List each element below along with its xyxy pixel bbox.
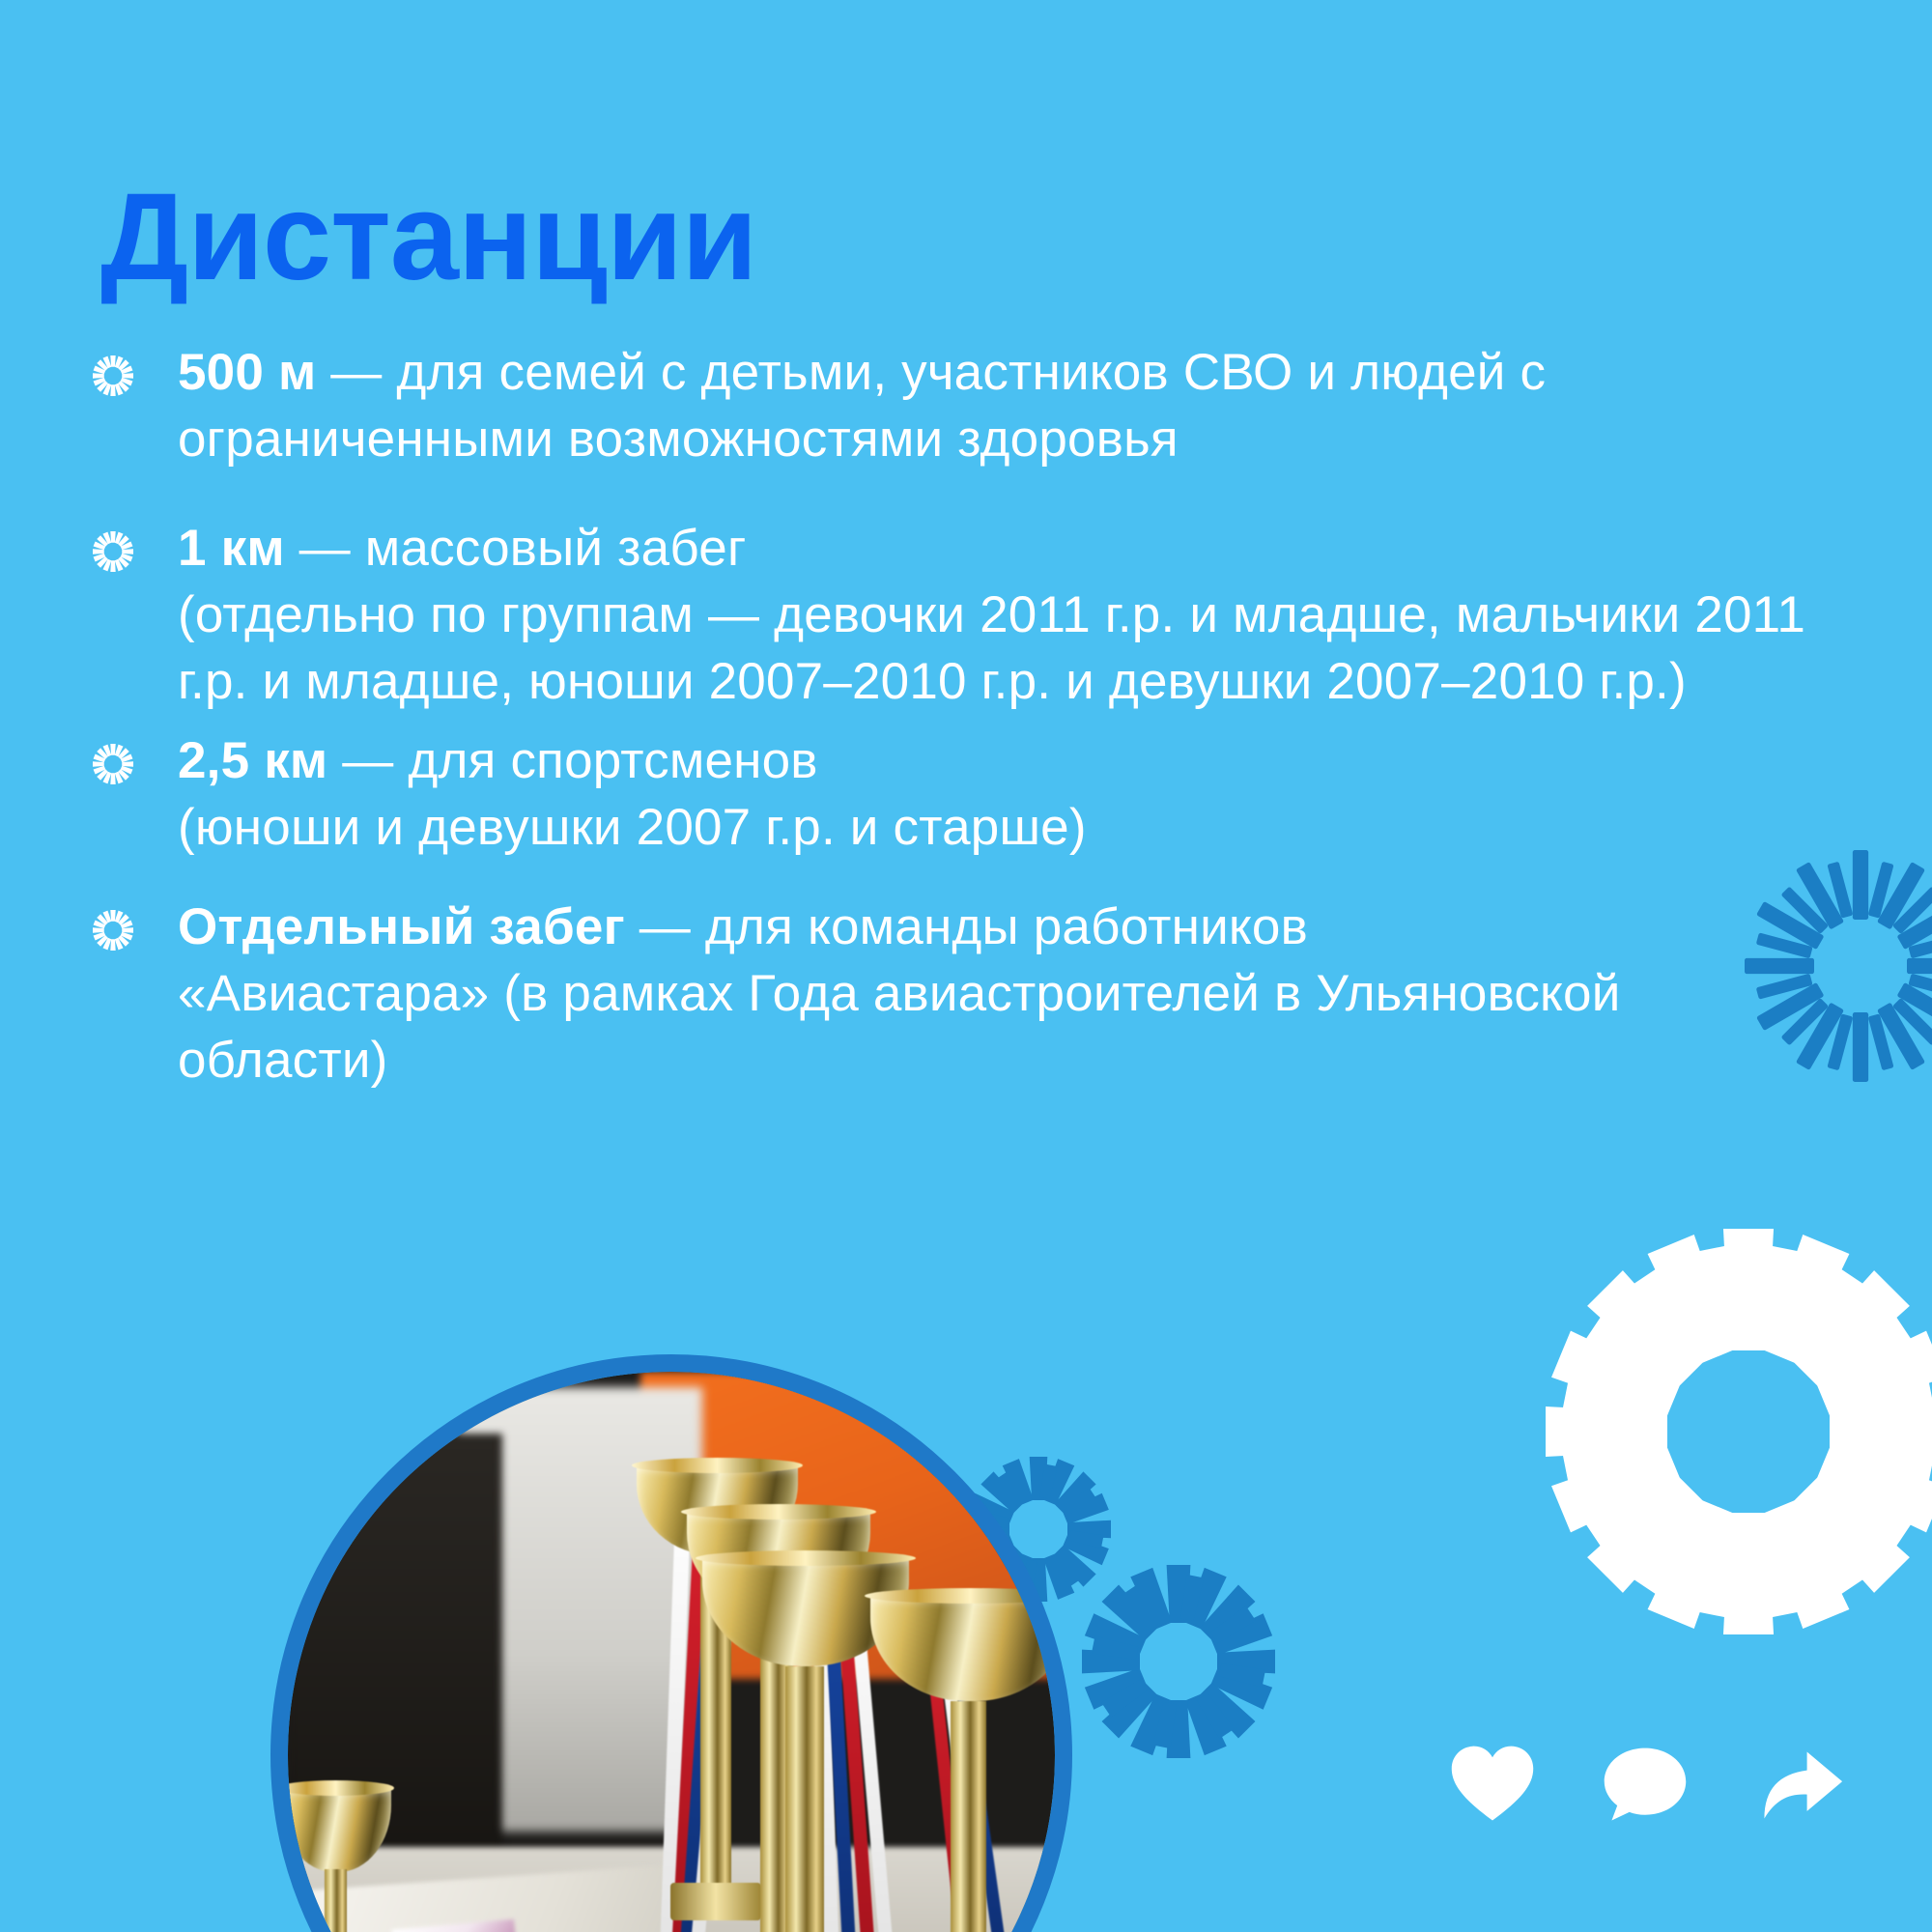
share-icon[interactable]: [1751, 1739, 1844, 1832]
distances-list: 500 м — для семей с детьми, участников С…: [93, 340, 1832, 1094]
starburst-icon: [93, 910, 133, 951]
list-item-rest: — для команды работников: [625, 898, 1308, 955]
list-item-subtext: (отдельно по группам — девочки 2011 г.р.…: [178, 582, 1832, 716]
like-icon[interactable]: [1446, 1739, 1539, 1832]
starburst-icon: [93, 744, 133, 784]
comment-icon[interactable]: [1599, 1739, 1691, 1832]
list-item-text: 500 м — для семей с детьми, участников С…: [178, 340, 1832, 473]
list-item-subtext: (юноши и девушки 2007 г.р. и старше): [178, 795, 1832, 862]
starburst-icon: [1082, 1565, 1275, 1758]
list-item-text: 2,5 км — для спортсменов: [178, 728, 1832, 795]
list-item-text: Отдельный забег — для команды работников: [178, 895, 1832, 961]
list-item: 1 км — массовый забег (отдельно по групп…: [93, 516, 1832, 716]
list-item: 2,5 км — для спортсменов (юноши и девушк…: [93, 728, 1832, 862]
list-item-lead: 500 м: [178, 344, 316, 401]
list-item-rest: — для спортсменов: [327, 732, 817, 789]
list-item-text: 1 км — массовый забег: [178, 516, 1832, 582]
list-item-lead: 2,5 км: [178, 732, 327, 789]
photo-clip: [288, 1372, 1055, 1932]
page-title: Дистанции: [100, 176, 756, 299]
list-item-subtext: «Авиастара» (в рамках Года авиастроителе…: [178, 961, 1832, 1094]
list-item: 500 м — для семей с детьми, участников С…: [93, 340, 1832, 473]
list-item-rest: — массовый забег: [285, 520, 747, 577]
list-item: Отдельный забег — для команды работников…: [93, 895, 1832, 1094]
list-item-rest: — для семей с детьми, участников СВО и л…: [178, 344, 1546, 468]
trophies-photo: [270, 1354, 1072, 1932]
photo-scene: [288, 1372, 1055, 1932]
starburst-icon: [93, 531, 133, 572]
social-actions: [1446, 1739, 1844, 1832]
list-item-lead: 1 км: [178, 520, 285, 577]
poster-canvas: Дистанции: [0, 0, 1932, 1932]
list-item-lead: Отдельный забег: [178, 898, 625, 955]
starburst-icon: [1546, 1229, 1932, 1634]
starburst-icon: [93, 355, 133, 396]
